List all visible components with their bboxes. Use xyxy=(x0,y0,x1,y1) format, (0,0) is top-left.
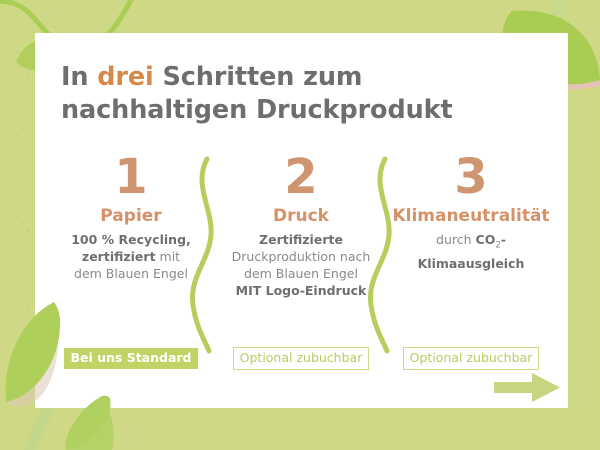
page-title: In drei Schritten zum nachhaltigen Druck… xyxy=(61,61,541,127)
status-badge: Optional zubuchbar xyxy=(233,347,370,370)
status-badge: Optional zubuchbar xyxy=(403,347,540,370)
content-card: In drei Schritten zum nachhaltigen Druck… xyxy=(35,33,568,408)
step-title: Klimaneutralität xyxy=(387,206,555,226)
badge-slot-2: Optional zubuchbar xyxy=(217,347,385,370)
status-badge: Bei uns Standard xyxy=(64,348,197,369)
step-title: Druck xyxy=(217,206,385,226)
step-description: Zertifizierte Druckproduktion nach dem B… xyxy=(217,231,385,299)
step-desc-line-3: dem Blauen Engel xyxy=(244,266,358,281)
step-desc-line-2: Druckproduktion nach xyxy=(232,249,371,264)
arrow-right-icon xyxy=(492,372,564,404)
step-column-3: 3 Klimaneutralität durch CO2- Klimaausgl… xyxy=(387,151,555,272)
infographic-canvas: In drei Schritten zum nachhaltigen Druck… xyxy=(0,0,600,450)
step-desc-line-2-bold: zertifiziert xyxy=(82,249,156,264)
headline-part-2: Schritten zum xyxy=(154,62,363,92)
step-desc-line-1-tail: - xyxy=(501,232,506,247)
headline-accent-word: drei xyxy=(97,62,153,92)
step-desc-line-4: MIT Logo-Eindruck xyxy=(236,283,367,298)
step-desc-line-1: 100 % Recycling, xyxy=(71,232,191,247)
badge-slot-3: Optional zubuchbar xyxy=(387,347,555,370)
wavy-divider-icon xyxy=(365,155,399,355)
wavy-divider-icon xyxy=(187,155,221,355)
step-column-2: 2 Druck Zertifizierte Druckproduktion na… xyxy=(217,151,385,299)
step-desc-line-1: Zertifizierte xyxy=(259,232,343,247)
step-desc-line-2-rest: mit xyxy=(156,249,181,264)
step-number: 3 xyxy=(387,151,555,203)
step-desc-line-2: Klimaausgleich xyxy=(418,256,525,271)
headline-part-1: In xyxy=(61,62,97,92)
step-description: durch CO2- Klimaausgleich xyxy=(387,231,555,272)
step-desc-line-1-prefix: durch xyxy=(436,232,476,247)
step-number: 2 xyxy=(217,151,385,203)
step-desc-co2-label: CO xyxy=(476,232,496,247)
steps-container: 1 Papier 100 % Recycling, zertifiziert m… xyxy=(35,151,568,391)
headline-line-2: nachhaltigen Druckprodukt xyxy=(61,95,453,125)
step-desc-line-3: dem Blauen Engel xyxy=(74,266,188,281)
